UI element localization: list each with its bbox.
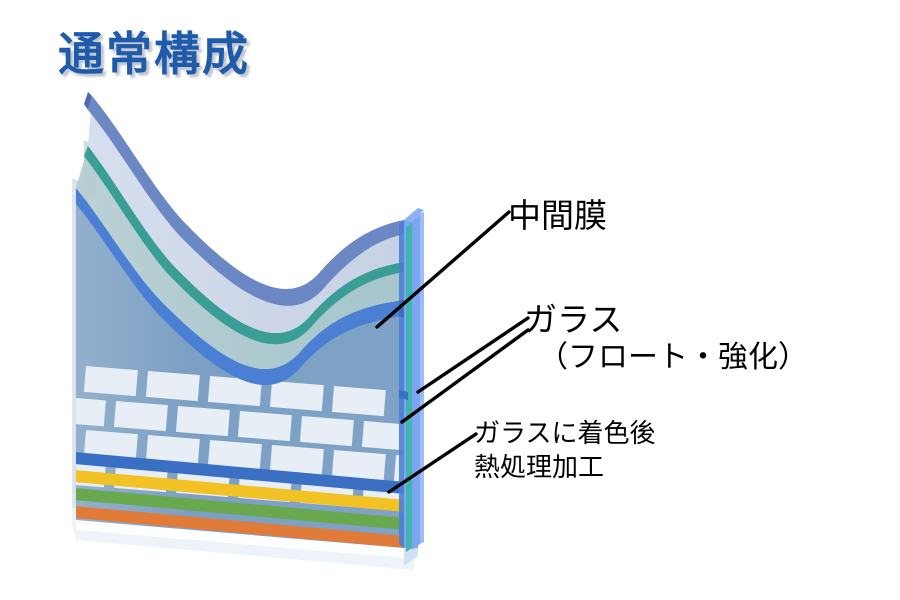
glass-stack-diagram	[0, 0, 900, 600]
label-glass-subtitle: （フロート・強化）	[538, 340, 808, 377]
label-interlayer: 中間膜	[508, 196, 607, 236]
stack-right-side-edge	[399, 208, 424, 552]
label-colored-glass-line2: 熱処理加工	[474, 452, 604, 484]
label-glass: ガラス	[524, 300, 622, 340]
label-colored-glass-line1: ガラスに着色後	[474, 418, 655, 450]
leader-line-glass-a	[418, 318, 528, 392]
slide-canvas: 通常構成	[0, 0, 900, 600]
